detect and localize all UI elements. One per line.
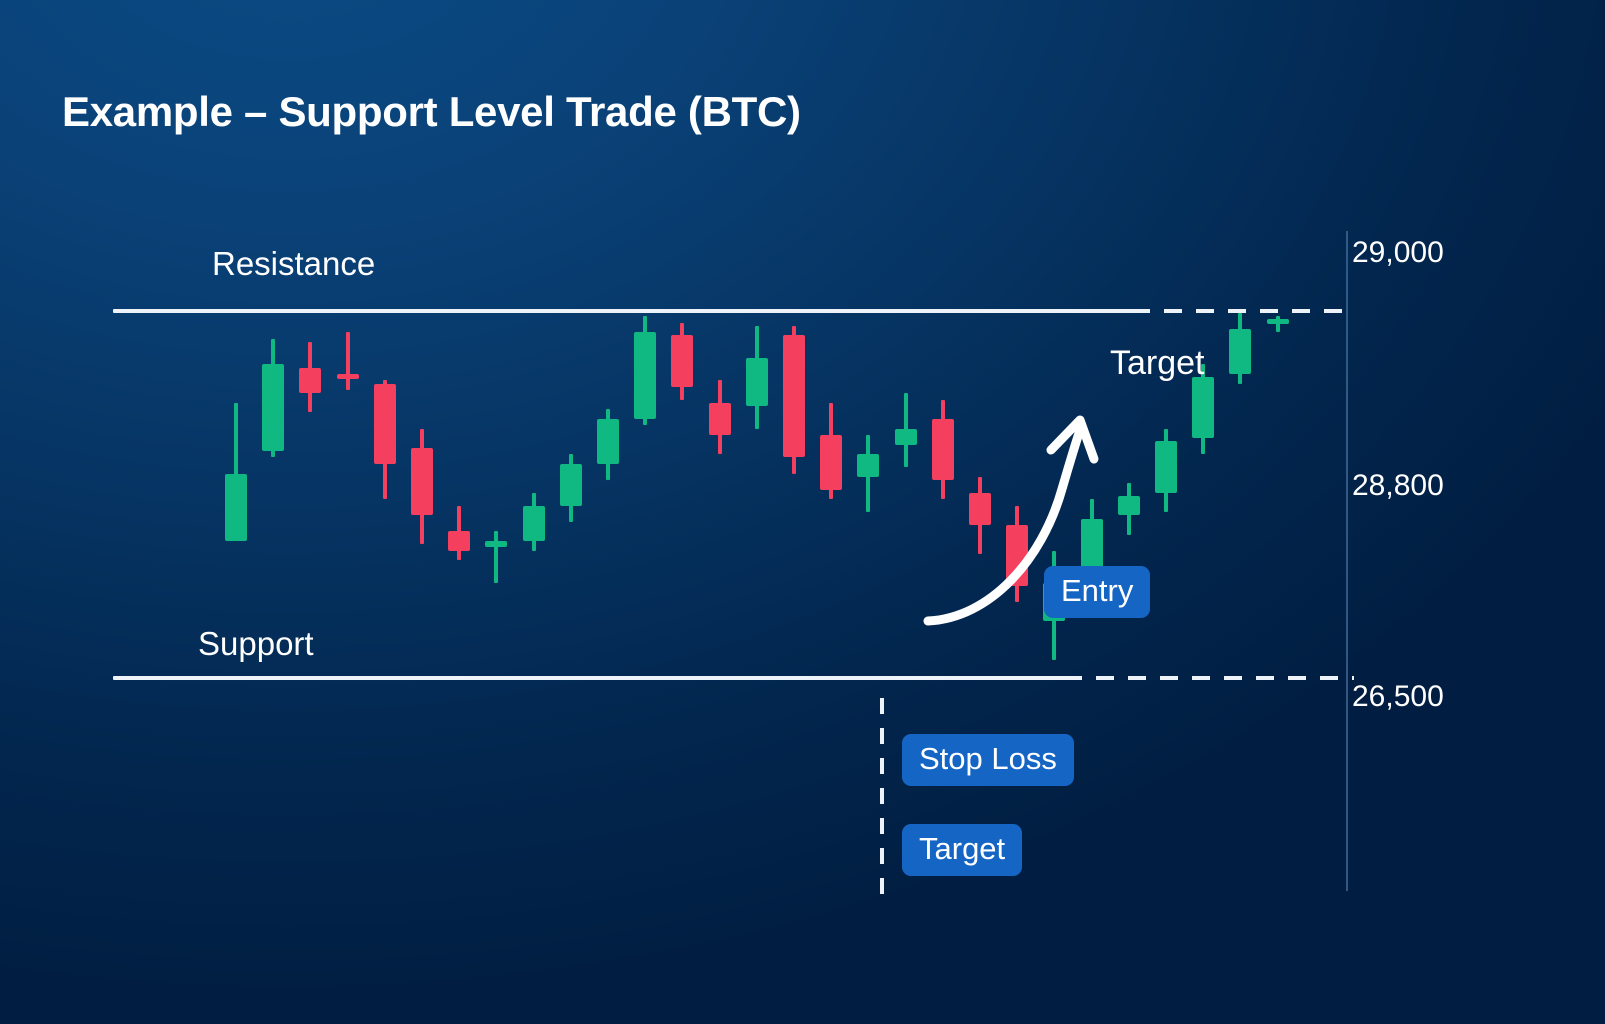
y-tick-28800: 28,800 [1352, 469, 1444, 503]
candlestick-body [969, 493, 991, 525]
candlestick-body [1155, 441, 1177, 492]
candlestick-body [895, 429, 917, 445]
candlestick-body [857, 454, 879, 477]
candlestick-body [820, 435, 842, 490]
candlestick-wick [346, 332, 350, 390]
chart-canvas: Example – Support Level Trade (BTC) Resi… [0, 0, 1605, 1024]
candlestick-body [374, 384, 396, 464]
support-line [113, 676, 1068, 680]
entry-vertical-dashed-line [880, 698, 884, 898]
candlestick-body [523, 506, 545, 541]
candlestick-body [634, 332, 656, 419]
candlestick-body [783, 335, 805, 457]
candlestick-body [1267, 319, 1289, 324]
candlestick-body [597, 419, 619, 464]
support-label: Support [198, 625, 314, 663]
y-tick-26500: 26,500 [1352, 680, 1444, 714]
candlestick-body [1118, 496, 1140, 515]
stop-loss-badge[interactable]: Stop Loss [902, 734, 1074, 786]
resistance-label: Resistance [212, 245, 375, 283]
candlestick-body [299, 368, 321, 394]
candlestick-wick [494, 531, 498, 582]
y-tick-29000: 29,000 [1352, 236, 1444, 270]
entry-badge[interactable]: Entry [1044, 566, 1150, 618]
support-line-dashed [1064, 676, 1354, 680]
candlestick-body [225, 474, 247, 542]
candlestick-body [932, 419, 954, 480]
candlestick-body [262, 364, 284, 451]
target-badge[interactable]: Target [902, 824, 1022, 876]
candlestick-body [485, 541, 507, 547]
plot-area: Resistance Support 29,000 28,800 26,500 … [0, 0, 1605, 1024]
resistance-line [113, 309, 1135, 313]
y-axis-line [1346, 231, 1348, 891]
candlestick-body [560, 464, 582, 506]
candlestick-body [448, 531, 470, 550]
candlestick-body [411, 448, 433, 516]
candlestick-body [671, 335, 693, 386]
resistance-line-dashed [1132, 309, 1354, 313]
target-text-label: Target [1110, 344, 1205, 383]
candlestick-body [1192, 377, 1214, 438]
candlestick-body [1229, 329, 1251, 374]
candlestick-body [746, 358, 768, 406]
candlestick-body [709, 403, 731, 435]
candlestick-body [1006, 525, 1028, 586]
candlestick-body [337, 374, 359, 379]
